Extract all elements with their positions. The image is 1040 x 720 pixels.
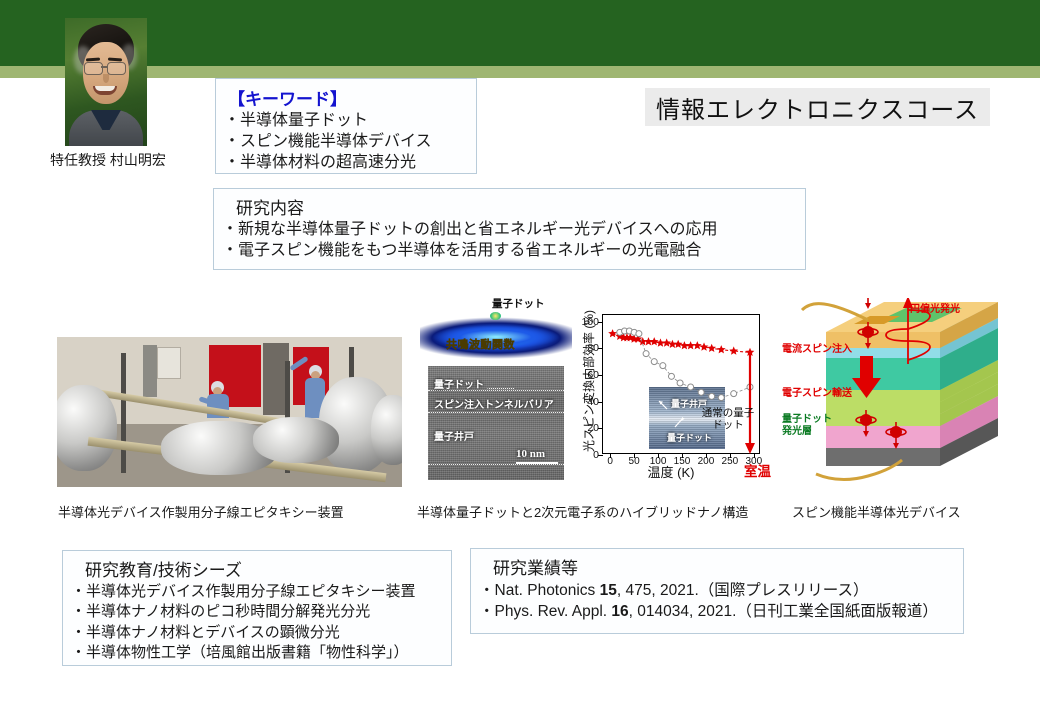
publication-rest: , 014034, 2021.（日刊工業全国紙面版報道） bbox=[629, 603, 938, 620]
chart-data-point bbox=[709, 393, 715, 399]
chart-data-point bbox=[700, 342, 709, 350]
chart-data-point bbox=[688, 384, 694, 390]
chart-data-point bbox=[707, 344, 716, 352]
chart-data-point bbox=[660, 363, 666, 369]
quantum-dot-top-label: 量子ドット bbox=[492, 296, 545, 311]
chart-data-point bbox=[718, 395, 724, 401]
chart-data-point bbox=[677, 380, 683, 386]
device-label-spin-injection: 電流スピン注入 bbox=[782, 340, 852, 355]
chart-y-tick-mark bbox=[598, 428, 603, 429]
chart-x-tick-mark bbox=[610, 453, 611, 458]
chart-x-tick-mark bbox=[658, 453, 659, 458]
chart-y-tick-mark bbox=[598, 402, 603, 403]
chart-data-point bbox=[731, 391, 737, 397]
tem-label-quantum-dot: 量子ドット bbox=[434, 376, 484, 391]
course-title: 情報エレクトロニクスコース bbox=[645, 88, 990, 126]
publication-item: ・Nat. Photonics 15, 475, 2021.（国際プレスリリース… bbox=[479, 580, 957, 601]
publication-volume: 16 bbox=[611, 603, 628, 620]
chart-plot-area: 量子井戸 量子ドット 通常の量子ドット 02040608010005010015… bbox=[602, 314, 760, 454]
seeds-item: ・半導体ナノ材料のピコ秒時間分解発光分光 bbox=[71, 602, 445, 622]
layer-divider bbox=[428, 412, 564, 413]
annotation-text: 通常の量子ドット bbox=[702, 407, 755, 431]
header-band-light bbox=[0, 66, 1040, 78]
chart-data-point bbox=[608, 329, 617, 337]
layer-divider bbox=[428, 464, 564, 465]
publication-volume: 15 bbox=[600, 582, 617, 599]
keywords-item: ・スピン機能半導体デバイス bbox=[224, 132, 470, 153]
tem-label-tunnel-barrier: スピン注入トンネルバリア bbox=[434, 396, 554, 411]
chart-y-tick-mark bbox=[598, 322, 603, 323]
tem-label-quantum-well: 量子井戸 bbox=[434, 428, 474, 443]
seeds-item: ・半導体ナノ材料とデバイスの顕微分光 bbox=[71, 623, 445, 643]
quantum-dot-marker bbox=[490, 312, 501, 320]
foil-wrapped-chamber bbox=[371, 395, 402, 465]
portrait-glasses-left bbox=[84, 62, 103, 75]
mbe-system-photo bbox=[57, 337, 402, 487]
scale-bar bbox=[516, 462, 558, 464]
keywords-title: 【キーワード】 bbox=[228, 85, 470, 110]
publications-title: 研究業績等 bbox=[493, 554, 957, 579]
chart-x-axis-label: 温度 (K) bbox=[606, 462, 736, 481]
publication-rest: , 475, 2021.（国際プレスリリース） bbox=[617, 582, 869, 599]
quantum-dot-structure-panel: 量子ドット 共鳴波動関数 量子ドット スピン注入トンネルバリア 量子井戸 10 … bbox=[420, 296, 572, 482]
chart-x-tick-mark bbox=[754, 453, 755, 458]
keywords-item: ・半導体量子ドット bbox=[224, 111, 470, 132]
portrait-nose bbox=[103, 74, 109, 83]
header-band-dark bbox=[0, 0, 1040, 66]
chart-data-point bbox=[717, 345, 726, 353]
foil-wrapped-chamber bbox=[253, 417, 339, 463]
chart-data-point bbox=[636, 331, 642, 337]
chart-data-point bbox=[668, 373, 674, 379]
device-label-emission: 円偏光発光 bbox=[910, 300, 960, 315]
keywords-box: 【キーワード】 ・半導体量子ドット ・スピン機能半導体デバイス ・半導体材料の超… bbox=[215, 78, 477, 174]
spin-conversion-efficiency-chart: 光スピン変換内部効率 (%) 量子井戸 量子ドット 通常の量子ドット 02040… bbox=[566, 300, 788, 492]
chart-data-point bbox=[650, 337, 659, 345]
chart-y-tick-mark bbox=[598, 455, 603, 456]
portrait-glasses-right bbox=[107, 62, 126, 75]
chart-room-temperature-label: 室温 bbox=[744, 460, 771, 480]
mbe-caption: 半導体光デバイス作製用分子線エピタキシー装置 bbox=[58, 502, 344, 521]
research-content-title: 研究内容 bbox=[236, 194, 799, 219]
chart-series-layer bbox=[603, 315, 761, 455]
chart-y-tick-mark bbox=[598, 348, 603, 349]
device-caption: スピン機能半導体光デバイス bbox=[792, 502, 961, 521]
keywords-item: ・半導体材料の超高速分光 bbox=[224, 153, 470, 174]
seeds-box: 研究教育/技術シーズ ・半導体光デバイス作製用分子線エピタキシー装置 ・半導体ナ… bbox=[62, 550, 452, 666]
research-content-item: ・電子スピン機能をもつ半導体を活用する省エネルギーの光電融合 bbox=[222, 241, 799, 262]
chart-x-tick-mark bbox=[730, 453, 731, 458]
chart-data-point bbox=[651, 359, 657, 365]
instrument-rack bbox=[143, 345, 157, 397]
chart-data-point bbox=[662, 338, 671, 346]
chart-x-tick-mark bbox=[706, 453, 707, 458]
research-content-box: 研究内容 ・新規な半導体量子ドットの創出と省エネルギー光デバイスへの応用 ・電子… bbox=[213, 188, 806, 270]
wavefunction-label: 共鳴波動関数 bbox=[446, 336, 515, 352]
device-label-spin-transport: 電子スピン輸送 bbox=[782, 384, 852, 399]
seeds-item: ・半導体光デバイス作製用分子線エピタキシー装置 bbox=[71, 582, 445, 602]
chart-data-point bbox=[674, 340, 683, 348]
frame-post bbox=[121, 353, 126, 473]
chart-room-temperature-arrow bbox=[745, 352, 755, 454]
chart-data-point bbox=[686, 341, 695, 349]
chart-data-point bbox=[643, 351, 649, 357]
portrait-glasses-bridge bbox=[101, 66, 107, 68]
publication-prefix: ・Nat. Photonics bbox=[479, 582, 600, 599]
chart-y-tick-mark bbox=[598, 375, 603, 376]
spin-device-diagram: 円偏光発光 電流スピン注入 電子スピン輸送 量子ドット 発光層 bbox=[780, 298, 1040, 494]
portrait-teeth bbox=[95, 86, 115, 91]
chart-data-point bbox=[729, 346, 738, 354]
chart-data-point bbox=[698, 389, 704, 395]
qd-caption: 半導体量子ドットと2次元電子系のハイブリッドナノ構造 bbox=[417, 502, 748, 521]
chart-x-tick-mark bbox=[682, 453, 683, 458]
tem-image: 量子ドット スピン注入トンネルバリア 量子井戸 10 nm bbox=[428, 366, 564, 480]
seeds-title: 研究教育/技術シーズ bbox=[85, 556, 445, 581]
seeds-item: ・半導体物性工学（培風館出版書籍「物性科学」） bbox=[71, 643, 445, 663]
publication-prefix: ・Phys. Rev. Appl. bbox=[479, 603, 611, 620]
chart-annotation-normal-qd: 通常の量子ドット bbox=[701, 407, 755, 431]
control-panel bbox=[157, 347, 181, 379]
chart-y-tick: 100 bbox=[581, 316, 599, 328]
scale-bar-label: 10 nm bbox=[516, 448, 545, 460]
publication-item: ・Phys. Rev. Appl. 16, 014034, 2021.（日刊工業… bbox=[479, 601, 957, 622]
professor-portrait bbox=[65, 18, 147, 146]
chart-x-tick-mark bbox=[634, 453, 635, 458]
publications-box: 研究業績等 ・Nat. Photonics 15, 475, 2021.（国際プ… bbox=[470, 548, 964, 634]
device-label-dot-layer-line2: 発光層 bbox=[782, 422, 812, 437]
professor-name: 特任教授 村山明宏 bbox=[28, 150, 188, 170]
chart-data-point bbox=[693, 341, 702, 349]
research-content-item: ・新規な半導体量子ドットの創出と省エネルギー光デバイスへの応用 bbox=[222, 220, 799, 241]
foil-wrapped-chamber bbox=[57, 385, 117, 471]
